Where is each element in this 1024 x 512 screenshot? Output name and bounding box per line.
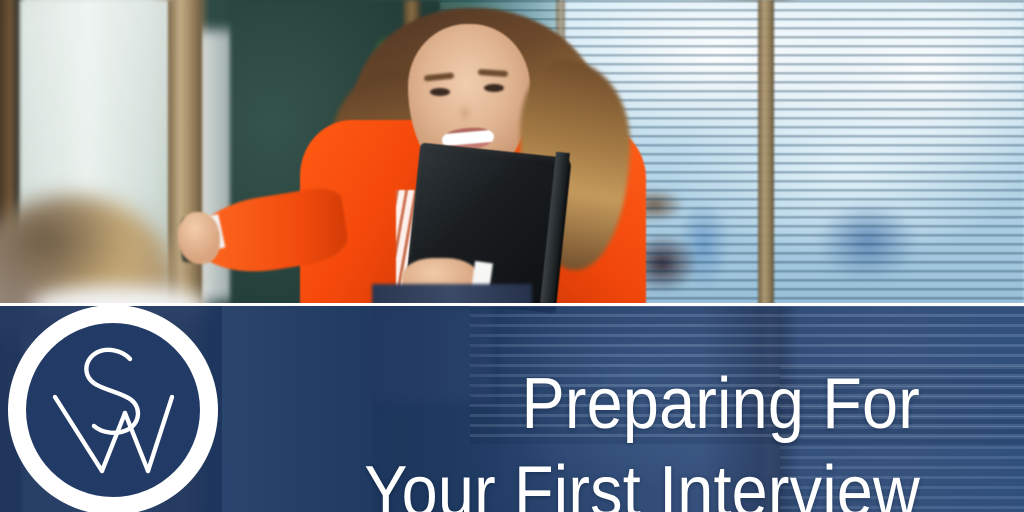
hand-on-door <box>178 212 220 264</box>
blog-header-banner: Preparing For Your First Interview <box>0 0 1024 512</box>
eye-left <box>430 88 450 96</box>
banner-title-line-1: Preparing For <box>326 360 920 448</box>
banner-title-line-2: Your First Interview <box>326 448 920 512</box>
eye-right <box>484 84 504 92</box>
banner-title: Preparing For Your First Interview <box>326 360 920 512</box>
nose <box>456 100 474 126</box>
sw-monogram-logo[interactable] <box>8 305 218 512</box>
sw-monogram-icon <box>26 323 200 497</box>
